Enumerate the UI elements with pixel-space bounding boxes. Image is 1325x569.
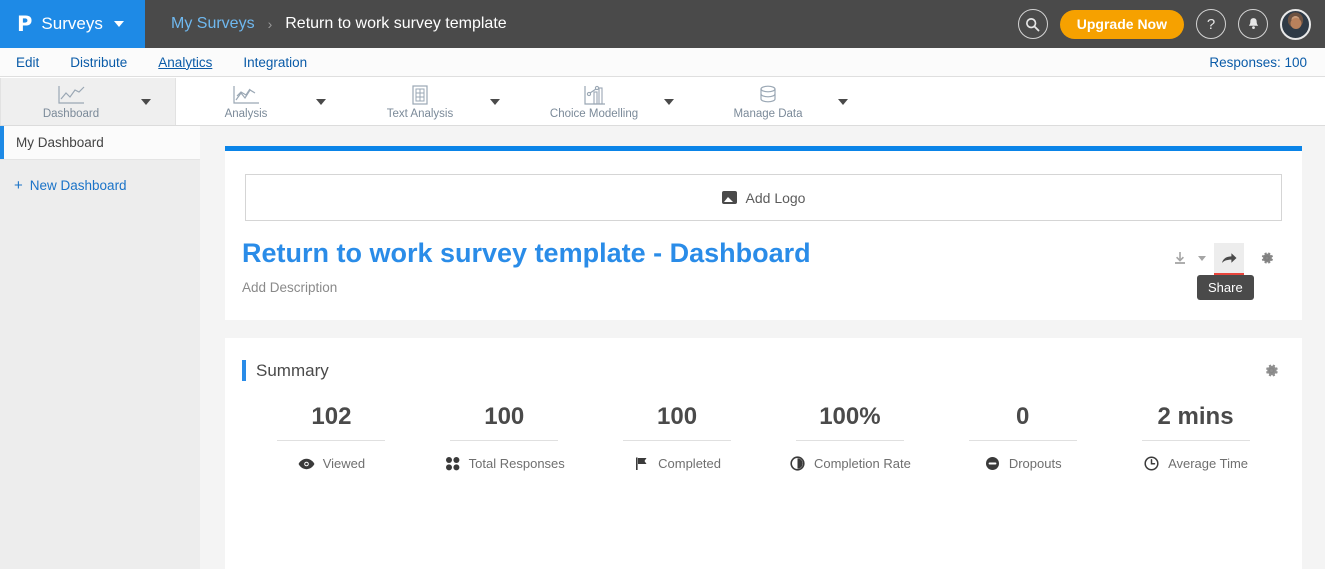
summary-header: Summary [225,338,1302,381]
stat-average-time: 2 mins Average Time [1109,403,1282,472]
settings-gear-button[interactable] [1252,243,1282,273]
stat-completed: 100 Completed [591,403,764,472]
stat-label-row: Viewed [298,455,365,472]
nav-tab-analytics[interactable]: Analytics [158,55,212,70]
toolbar-group-choice-modelling: Choice Modelling [524,78,698,125]
brand-surveys-menu[interactable]: P Surveys [0,0,145,48]
nav-tab-edit[interactable]: Edit [16,55,39,70]
toolbar-label-choice-modelling: Choice Modelling [550,108,638,120]
stat-divider [969,440,1077,441]
brand-label: Surveys [41,14,102,34]
stat-label-row: Average Time [1143,455,1248,472]
dashboard-main: Add Logo Return to work survey template … [200,126,1325,569]
toolbar-label-manage-data: Manage Data [733,108,802,120]
toolbar-item-dashboard[interactable]: Dashboard [1,78,141,125]
share-button[interactable] [1214,243,1244,273]
dashboard-sidebar: My Dashboard + New Dashboard [0,126,200,569]
toolbar-group-dashboard: Dashboard [1,78,175,125]
clock-icon [1143,455,1160,472]
manage-data-dropdown-caret-icon[interactable] [838,99,848,105]
new-dashboard-button[interactable]: + New Dashboard [0,165,200,205]
document-grid-icon [408,83,432,107]
analytics-toolbar: Dashboard Analysis Text Analysis [0,78,1325,126]
four-dots-icon [444,455,461,472]
dashboard-description[interactable]: Add Description [242,280,811,295]
page-title[interactable]: Return to work survey template - Dashboa… [242,237,811,269]
stat-value: 100 [657,403,697,431]
share-tooltip: Share [1197,275,1254,300]
sidebar-item-my-dashboard[interactable]: My Dashboard [0,126,200,160]
image-icon [722,191,737,204]
stat-total-responses: 100 Total Responses [418,403,591,472]
secondary-nav-bar: Edit Distribute Analytics Integration Re… [0,48,1325,77]
stat-label: Total Responses [469,456,565,471]
stat-value: 0 [1016,403,1029,431]
nav-tab-distribute[interactable]: Distribute [70,55,127,70]
dashboard-action-buttons: Share [1165,237,1282,273]
choice-modelling-dropdown-caret-icon[interactable] [664,99,674,105]
app-root: P Surveys My Surveys › Return to work su… [0,0,1325,569]
stat-label: Completed [658,456,721,471]
stat-value: 100 [484,403,524,431]
scatter-chart-icon [231,83,261,107]
toolbar-item-manage-data[interactable]: Manage Data [698,78,838,125]
stat-viewed: 102 Viewed [245,403,418,472]
chevron-down-icon[interactable] [114,21,124,27]
stat-dropouts: 0 Dropouts [936,403,1109,472]
stat-value: 102 [311,403,351,431]
toolbar-group-text-analysis: Text Analysis [350,78,524,125]
new-dashboard-label: New Dashboard [30,178,127,193]
stat-divider [796,440,904,441]
top-actions: Upgrade Now ? [1018,9,1325,40]
breadcrumb-my-surveys[interactable]: My Surveys [171,15,255,33]
toolbar-label-dashboard: Dashboard [43,108,99,120]
download-button[interactable] [1165,243,1195,273]
toolbar-item-analysis[interactable]: Analysis [176,78,316,125]
stat-value: 100% [819,403,880,431]
add-logo-button[interactable]: Add Logo [245,174,1282,221]
toolbar-label-analysis: Analysis [225,108,268,120]
upgrade-now-button[interactable]: Upgrade Now [1060,10,1184,39]
stat-label: Viewed [323,456,365,471]
summary-title: Summary [256,361,329,381]
eye-icon [298,455,315,472]
toolbar-label-text-analysis: Text Analysis [387,108,453,120]
help-icon[interactable]: ? [1196,9,1226,39]
stat-value: 2 mins [1158,403,1234,431]
text-analysis-dropdown-caret-icon[interactable] [490,99,500,105]
breadcrumb: My Surveys › Return to work survey templ… [145,15,507,33]
notification-bell-icon[interactable] [1238,9,1268,39]
dashboard-title-block: Return to work survey template - Dashboa… [242,237,811,295]
summary-settings-gear-icon[interactable] [1263,362,1280,379]
analysis-dropdown-caret-icon[interactable] [316,99,326,105]
dashboard-dropdown-caret-icon[interactable] [141,99,151,105]
responses-count: Responses: 100 [1209,55,1325,70]
stat-divider [450,440,558,441]
breadcrumb-separator-icon: › [268,16,273,32]
summary-card: Summary 102 Viewed 100 [225,338,1302,569]
stat-label-row: Dropouts [984,455,1062,472]
plus-icon: + [14,178,23,193]
stat-divider [623,440,731,441]
stat-label: Completion Rate [814,456,911,471]
flag-icon [633,455,650,472]
stat-completion-rate: 100% Completion Rate [763,403,936,472]
breadcrumb-current-survey: Return to work survey template [285,15,506,33]
toolbar-item-choice-modelling[interactable]: Choice Modelling [524,78,664,125]
top-header-bar: P Surveys My Surveys › Return to work su… [0,0,1325,48]
database-icon [756,83,780,107]
product-logo-icon: P [17,14,32,35]
toolbar-group-manage-data: Manage Data [698,78,872,125]
nav-tab-integration[interactable]: Integration [243,55,307,70]
add-logo-label: Add Logo [746,190,806,206]
dashboard-title-row: Return to work survey template - Dashboa… [225,221,1302,320]
secondary-nav-items: Edit Distribute Analytics Integration [0,55,307,70]
stat-label: Dropouts [1009,456,1062,471]
sidebar-item-label: My Dashboard [16,135,104,150]
stat-divider [1142,440,1250,441]
summary-accent-bar [242,360,246,381]
stat-divider [277,440,385,441]
dashboard-header-card: Add Logo Return to work survey template … [225,146,1302,320]
download-dropdown-caret-icon[interactable] [1198,256,1206,261]
stat-label-row: Total Responses [444,455,565,472]
bar-scatter-icon [581,83,607,107]
stat-label-row: Completed [633,455,721,472]
toolbar-group-analysis: Analysis [176,78,350,125]
search-icon[interactable] [1018,9,1048,39]
pie-icon [789,455,806,472]
stat-label: Average Time [1168,456,1248,471]
toolbar-item-text-analysis[interactable]: Text Analysis [350,78,490,125]
minus-circle-icon [984,455,1001,472]
summary-stats: 102 Viewed 100 [225,381,1302,472]
line-chart-icon [56,83,86,107]
stat-label-row: Completion Rate [789,455,911,472]
user-avatar[interactable] [1280,9,1311,40]
